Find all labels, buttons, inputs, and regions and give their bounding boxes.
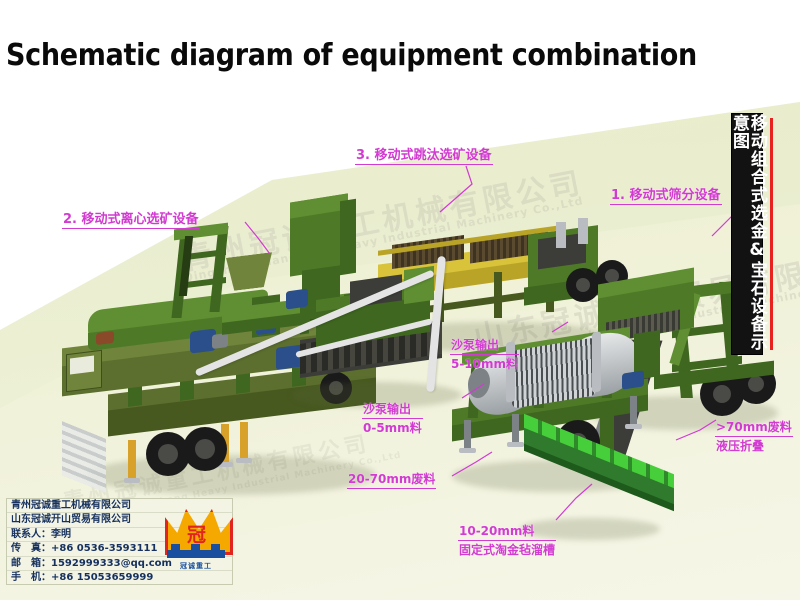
label-waste-over-70: >70mm废料 液压折叠 <box>715 418 793 455</box>
label-sp510-line-1: 沙泵输出 <box>450 336 519 355</box>
jig-motor <box>286 288 308 309</box>
contact-value: 青州冠诚重工机械有限公司 <box>11 499 131 512</box>
label-over70-line-2: 液压折叠 <box>715 437 793 455</box>
schematic-canvas: 青州冠诚重工机械有限公司 Qingzhou Guancheng Heavy In… <box>0 0 800 600</box>
vertical-banner: 移动组合式选金&宝石设备示意图 <box>731 113 763 355</box>
contact-key: 联系人 <box>11 528 41 541</box>
control-panel-screen <box>70 356 94 375</box>
wheel-hub <box>576 278 590 292</box>
jig-actuator <box>556 222 566 248</box>
label-sandpump-5-10: 沙泵输出 5-10mm料 <box>450 336 519 373</box>
label-1-line-1: 1. 移动式筛分设备 <box>610 184 722 205</box>
label-sp510-line-2: 5-10mm料 <box>450 355 519 373</box>
trommel-jack-foot <box>625 424 642 429</box>
pump-coupling <box>212 333 228 349</box>
contact-key: 手 机 <box>11 571 41 584</box>
logo-base-bar <box>167 550 225 558</box>
contact-key: 邮 箱 <box>11 557 41 570</box>
label-1020-line-1: 10-20mm料 <box>458 522 556 541</box>
wheel-hub <box>195 439 215 459</box>
jig-actuator <box>578 218 588 244</box>
wheel-hub <box>748 376 764 392</box>
logo-caption: 冠诚重工 <box>166 561 226 571</box>
contact-key: 传 真 <box>11 542 41 555</box>
label-1-screening: 1. 移动式筛分设备 <box>610 184 722 205</box>
company-logo: 冠 冠诚重工 <box>163 503 229 575</box>
label-2070-line-1: 20-70mm废料 <box>347 470 436 489</box>
jack-foot <box>124 478 140 483</box>
jig-feed-hood-side <box>340 199 356 276</box>
contact-value: ：+86 0536-3593111 <box>41 542 157 555</box>
label-1020-line-2: 固定式淘金毡溜槽 <box>458 541 556 559</box>
contact-value: 山东冠诚开山贸易有限公司 <box>11 513 131 526</box>
contact-value: ：1592999333@qq.com <box>41 557 172 570</box>
label-waste-20-70: 20-70mm废料 <box>347 470 436 489</box>
jack-leg[interactable] <box>128 440 136 482</box>
wheel-hub <box>713 385 731 403</box>
label-10-20-sluice: 10-20mm料 固定式淘金毡溜槽 <box>458 522 556 559</box>
label-sandpump-0-5: 沙泵输出 0-5mm料 <box>362 400 423 437</box>
jack-foot <box>236 458 252 463</box>
label-2-centrifugal: 2. 移动式离心选矿设备 <box>62 208 200 229</box>
contact-value: ：李明 <box>41 528 71 541</box>
page-title: Schematic diagram of equipment combinati… <box>6 38 697 73</box>
label-over70-line-1: >70mm废料 <box>715 418 793 437</box>
trommel-band <box>592 331 601 392</box>
banner-red-rule <box>770 118 773 350</box>
trommel-jack-foot <box>459 448 476 453</box>
logo-letter: 冠 <box>187 520 206 547</box>
wheel-hub <box>158 444 178 464</box>
contact-value: ：+86 15053659999 <box>41 571 153 584</box>
trommel-jack-foot <box>507 442 524 447</box>
vertical-banner-text: 移动组合式选金&宝石设备示意图 <box>729 114 765 354</box>
label-3-line-1: 3. 移动式跳汰选矿设备 <box>355 144 493 165</box>
label-sp05-line-2: 0-5mm料 <box>362 419 423 437</box>
gearbox <box>96 331 114 345</box>
label-sp05-line-1: 沙泵输出 <box>362 400 423 419</box>
label-3-jig: 3. 移动式跳汰选矿设备 <box>355 144 493 165</box>
jack-leg[interactable] <box>240 422 248 462</box>
label-2-line-1: 2. 移动式离心选矿设备 <box>62 208 200 229</box>
